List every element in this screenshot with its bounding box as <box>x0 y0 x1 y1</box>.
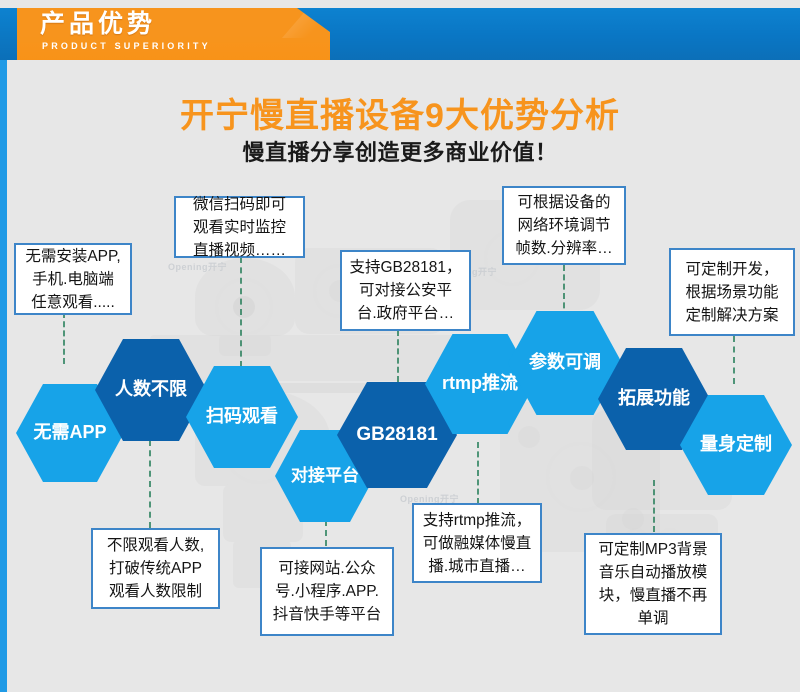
hex-platform-link-label: 对接平台 <box>287 467 363 486</box>
callout-gb28181-note-line-0: 支持GB28181， <box>350 256 462 279</box>
connector-custom-made <box>653 480 655 532</box>
hex-custom-made-label: 量身定制 <box>696 435 776 455</box>
hex-param-adjust-label: 参数可调 <box>525 353 605 373</box>
callout-rtmp-push-note-line-1: 可做融媒体慢直 <box>423 532 532 555</box>
callout-extend-func-note-line-1: 根据场景功能 <box>685 281 778 304</box>
callout-no-app-note-line-0: 无需安装APP, <box>25 245 120 268</box>
callout-no-app-note-line-2: 任意观看..... <box>25 291 120 314</box>
connector-rtmp-push <box>477 442 479 504</box>
hex-no-app-label: 无需APP <box>29 423 110 443</box>
callout-gb28181-note-line-1: 可对接公安平 <box>350 279 462 302</box>
callout-no-app-note[interactable]: 无需安装APP, 手机.电脑端 任意观看..... <box>14 243 132 315</box>
callout-platform-link-note[interactable]: 可接网站.公众 号.小程序.APP. 抖音快手等平台 <box>260 547 394 636</box>
hex-extend-func-label: 拓展功能 <box>614 389 694 409</box>
hex-rtmp-push-label: rtmp推流 <box>438 374 522 394</box>
connector-scan-watch <box>240 257 242 367</box>
hex-gb28181-label: GB28181 <box>352 425 441 446</box>
header-title-cn: 产品优势 <box>40 11 156 38</box>
callout-extend-func-note-line-2: 定制解决方案 <box>685 304 778 327</box>
callout-custom-made-note-line-2: 块，慢直播不再 <box>598 584 707 607</box>
callout-scan-watch-note-line-0: 微信扫码即可 <box>193 193 286 216</box>
poster-canvas: 产品优势 PRODUCT SUPERIORITY <box>0 0 800 692</box>
callout-platform-link-note-line-0: 可接网站.公众 <box>273 557 382 580</box>
callout-platform-link-note-line-1: 号.小程序.APP. <box>273 580 382 603</box>
hex-scan-watch-label: 扫码观看 <box>202 407 282 427</box>
callout-scan-watch-note-line-2: 直播视频…… <box>193 239 286 262</box>
connector-unlimited <box>149 440 151 528</box>
connector-no-app <box>63 312 65 364</box>
connector-extend-func <box>733 336 735 384</box>
callout-unlimited-note-line-1: 打破传统APP <box>107 557 204 580</box>
callout-custom-made-note-line-1: 音乐自动播放模 <box>598 561 707 584</box>
callout-no-app-note-line-1: 手机.电脑端 <box>25 268 120 291</box>
page-title: 开宁慢直播设备9大优势分析 <box>0 88 800 137</box>
callout-platform-link-note-line-2: 抖音快手等平台 <box>273 603 382 626</box>
callout-gb28181-note[interactable]: 支持GB28181， 可对接公安平 台.政府平台… <box>340 250 471 331</box>
callout-scan-watch-note[interactable]: 微信扫码即可 观看实时监控 直播视频…… <box>174 196 305 258</box>
callout-unlimited-note[interactable]: 不限观看人数, 打破传统APP 观看人数限制 <box>91 528 220 609</box>
callout-unlimited-note-line-2: 观看人数限制 <box>107 580 204 603</box>
callout-rtmp-push-note-line-0: 支持rtmp推流， <box>423 509 532 532</box>
header-left-strip <box>0 8 17 60</box>
callout-param-adjust-note-line-0: 可根据设备的 <box>515 191 612 214</box>
callout-extend-func-note[interactable]: 可定制开发， 根据场景功能 定制解决方案 <box>669 248 795 336</box>
header-title-en: PRODUCT SUPERIORITY <box>42 41 211 52</box>
callout-extend-func-note-line-0: 可定制开发， <box>685 258 778 281</box>
callout-rtmp-push-note-line-2: 播.城市直播… <box>423 555 532 578</box>
callout-rtmp-push-note[interactable]: 支持rtmp推流， 可做融媒体慢直 播.城市直播… <box>412 503 542 583</box>
callout-param-adjust-note[interactable]: 可根据设备的 网络环境调节 帧数.分辨率… <box>502 186 626 265</box>
callout-scan-watch-note-line-1: 观看实时监控 <box>193 216 286 239</box>
callout-custom-made-note-line-3: 单调 <box>598 607 707 630</box>
hex-unlimited-label: 人数不限 <box>111 380 191 400</box>
connector-gb28181 <box>397 330 399 382</box>
watermark-brand-1: Opening开宁 <box>168 260 227 273</box>
page-subtitle: 慢直播分享创造更多商业价值！ <box>0 135 800 167</box>
callout-param-adjust-note-line-1: 网络环境调节 <box>515 214 612 237</box>
callout-custom-made-note-line-0: 可定制MP3背景 <box>598 538 707 561</box>
callout-gb28181-note-line-2: 台.政府平台… <box>350 302 462 325</box>
callout-unlimited-note-line-0: 不限观看人数, <box>107 534 204 557</box>
callout-custom-made-note[interactable]: 可定制MP3背景 音乐自动播放模 块，慢直播不再 单调 <box>584 533 722 635</box>
callout-param-adjust-note-line-2: 帧数.分辨率… <box>515 237 612 260</box>
